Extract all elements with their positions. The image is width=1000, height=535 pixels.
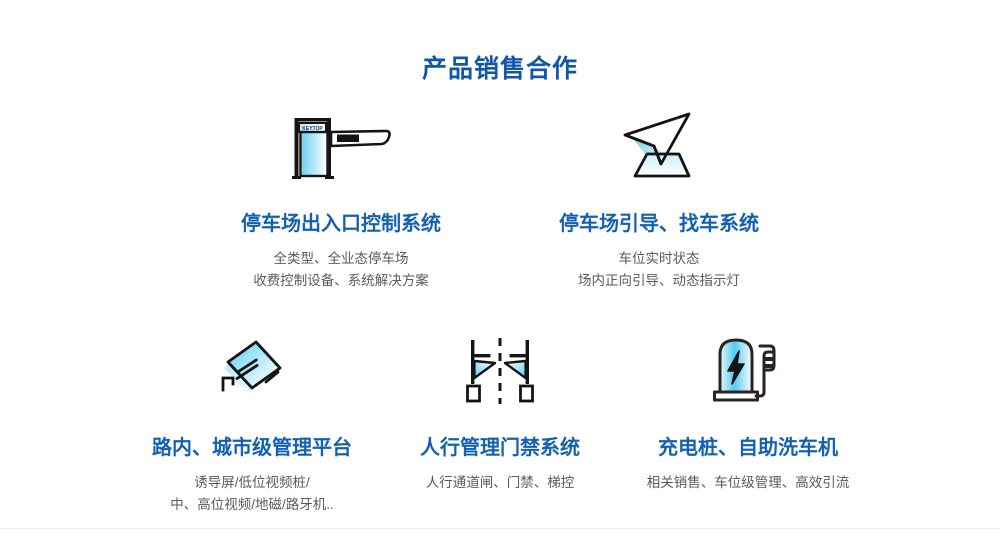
card-subtitle-line: 相关销售、车位级管理、高效引流 — [647, 472, 850, 494]
card-subtitle-line: 人行通道闸、门禁、梯控 — [426, 472, 575, 494]
card-subtitle: 相关销售、车位级管理、高效引流 — [647, 472, 850, 494]
card-subtitle: 全类型、全业态停车场 收费控制设备、系统解决方案 — [253, 248, 429, 292]
card-title: 人行管理门禁系统 — [420, 435, 580, 461]
card-title: 停车场引导、找车系统 — [559, 211, 759, 237]
surveillance-camera-icon — [206, 332, 298, 408]
card-title: 路内、城市级管理平台 — [152, 435, 352, 461]
ev-charging-station-icon — [708, 332, 788, 408]
card-subtitle: 车位实时状态 场内正向引导、动态指示灯 — [578, 248, 740, 292]
card-subtitle: 诱导屏/低位视频桩/ 中、高位视频/地磁/路牙机.. — [170, 472, 334, 516]
card-parking-guidance-find-car[interactable]: 停车场引导、找车系统 车位实时状态 场内正向引导、动态指示灯 — [500, 108, 818, 292]
card-roadside-city-management-platform[interactable]: 路内、城市级管理平台 诱导屏/低位视频桩/ 中、高位视频/地磁/路牙机.. — [128, 332, 376, 516]
card-subtitle-line: 场内正向引导、动态指示灯 — [578, 270, 740, 292]
card-subtitle-line: 车位实时状态 — [578, 248, 740, 270]
card-subtitle-line: 全类型、全业态停车场 — [253, 248, 429, 270]
card-subtitle-line: 诱导屏/低位视频桩/ — [170, 472, 334, 494]
top-row: KEYTOP 停车场出入口控制系统 全类型、全业态停车场 收费控制设备、系统解决… — [0, 108, 1000, 292]
card-parking-entrance-exit-control[interactable]: KEYTOP 停车场出入口控制系统 全类型、全业态停车场 收费控制设备、系统解决… — [182, 108, 500, 292]
card-subtitle-line: 收费控制设备、系统解决方案 — [253, 270, 429, 292]
pedestrian-turnstile-gate-icon — [459, 332, 541, 408]
page-title: 产品销售合作 — [0, 53, 1000, 85]
parking-guidance-pointer-icon — [615, 108, 703, 184]
bottom-divider — [0, 528, 1000, 529]
card-subtitle: 人行通道闸、门禁、梯控 — [426, 472, 575, 494]
card-title: 充电桩、自助洗车机 — [658, 435, 838, 461]
parking-barrier-gate-icon: KEYTOP — [287, 108, 395, 184]
card-pedestrian-access-control[interactable]: 人行管理门禁系统 人行通道闸、门禁、梯控 — [376, 332, 624, 516]
bottom-row: 路内、城市级管理平台 诱导屏/低位视频桩/ 中、高位视频/地磁/路牙机.. — [0, 332, 1000, 516]
card-subtitle-line: 中、高位视频/地磁/路牙机.. — [170, 494, 334, 516]
product-sales-cooperation-page: 产品销售合作 — [0, 0, 1000, 535]
card-title: 停车场出入口控制系统 — [241, 211, 441, 237]
card-ev-charging-car-wash[interactable]: 充电桩、自助洗车机 相关销售、车位级管理、高效引流 — [624, 332, 872, 516]
